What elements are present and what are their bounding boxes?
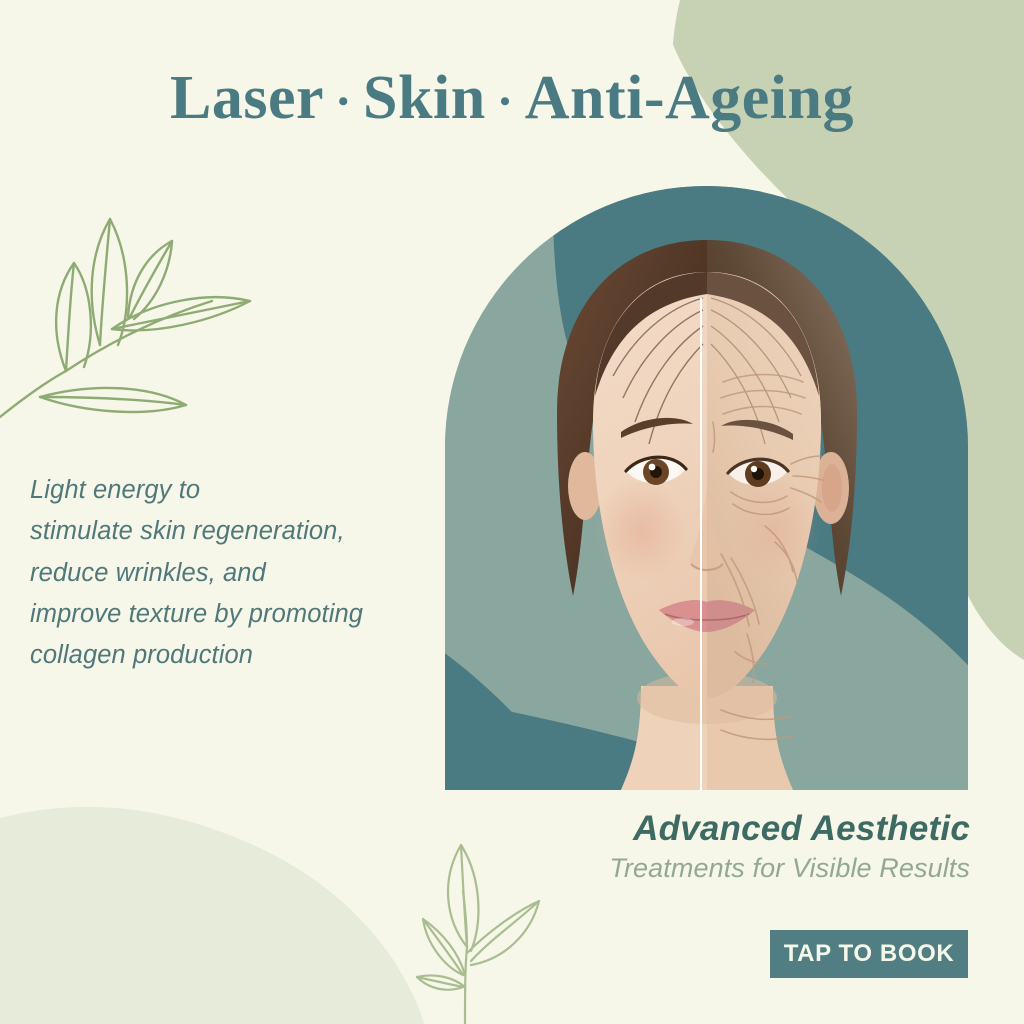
promo-canvas: Laser•Skin•Anti-Ageing Light energy to s… — [0, 0, 1024, 1024]
body-line-3: reduce wrinkles, and — [30, 553, 450, 594]
title-part-anti-ageing: Anti-Ageing — [525, 64, 854, 132]
leaf-branch-top-left-icon — [0, 205, 260, 420]
tap-to-book-button[interactable]: TAP TO BOOK — [770, 930, 968, 978]
title-separator-1: • — [338, 86, 349, 118]
headline-container: Laser•Skin•Anti-Ageing — [0, 66, 1024, 131]
body-line-1: Light energy to — [30, 470, 450, 511]
arch-portrait-frame — [445, 186, 968, 790]
page-title: Laser•Skin•Anti-Ageing — [170, 66, 854, 131]
body-copy: Light energy to stimulate skin regenerat… — [30, 470, 450, 676]
before-after-portrait — [445, 186, 968, 790]
title-separator-2: • — [500, 86, 511, 118]
body-line-4: improve texture by promoting — [30, 594, 450, 635]
blob-bottom-left-pale — [0, 807, 424, 1024]
body-line-5: collagen production — [30, 635, 450, 676]
brand-tagline: Treatments for Visible Results — [470, 851, 970, 886]
title-part-laser: Laser — [170, 64, 324, 132]
title-part-skin: Skin — [363, 64, 486, 132]
brand-lockup: Advanced Aesthetic Treatments for Visibl… — [470, 808, 970, 886]
brand-name: Advanced Aesthetic — [470, 808, 970, 849]
before-after-divider — [700, 298, 702, 790]
body-line-2: stimulate skin regeneration, — [30, 511, 450, 552]
